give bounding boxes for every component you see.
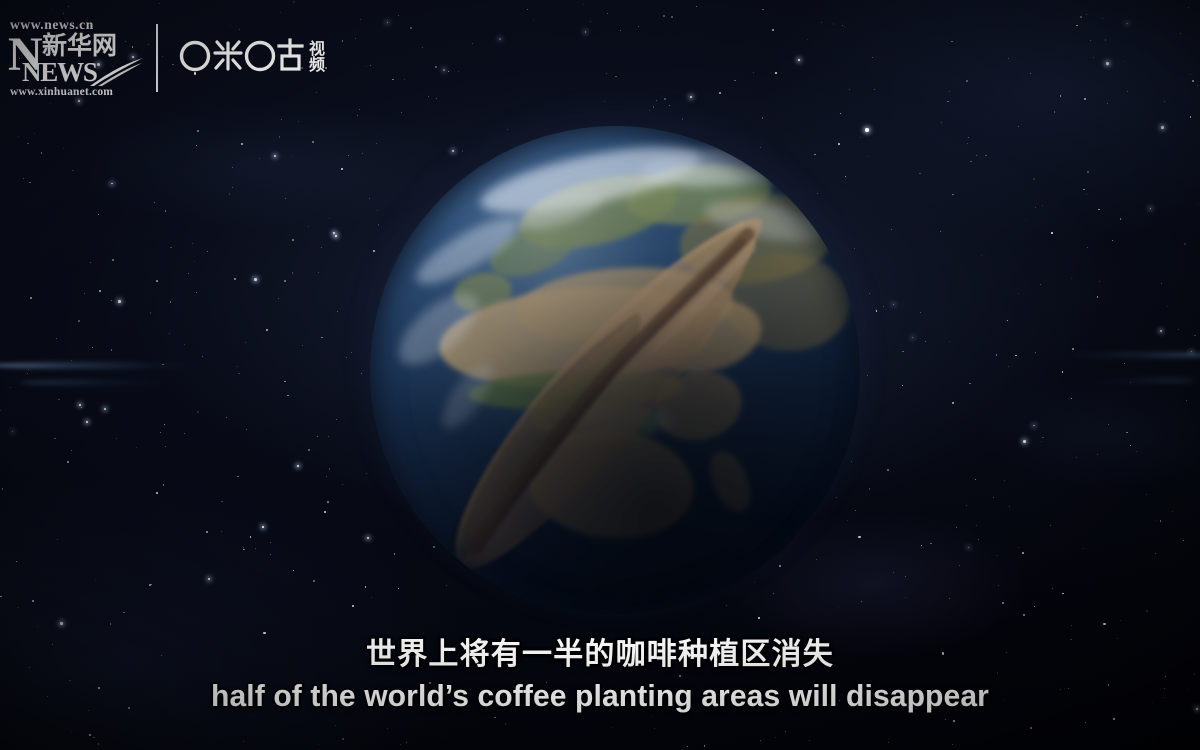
star [1033, 425, 1035, 427]
star-bright [104, 408, 106, 410]
star [985, 155, 986, 156]
star [975, 479, 976, 480]
star [1008, 366, 1009, 367]
star [284, 280, 286, 282]
star [341, 168, 343, 170]
star [98, 214, 99, 215]
star [164, 424, 165, 425]
star [1080, 16, 1082, 18]
star [949, 91, 950, 92]
star [772, 29, 774, 31]
migu-video-logo[interactable]: 视 频 [178, 34, 325, 83]
video-frame: www.news.cn N 新华网 NEWS www.xinhuanet.com [0, 0, 1200, 750]
star [192, 243, 193, 244]
star-bright [208, 578, 210, 580]
star [406, 742, 407, 743]
star [1035, 352, 1036, 353]
star [1086, 194, 1087, 195]
star [1124, 363, 1125, 364]
star [252, 276, 253, 277]
star [1190, 74, 1191, 75]
star [1155, 553, 1156, 554]
star [671, 16, 673, 18]
star [925, 341, 926, 342]
star [329, 468, 330, 469]
star [90, 262, 91, 263]
star [861, 601, 862, 602]
star [112, 259, 113, 260]
star [328, 436, 329, 437]
star [196, 292, 197, 293]
star [1120, 218, 1121, 219]
star [1191, 351, 1193, 353]
star [2, 488, 3, 489]
star [1023, 614, 1025, 616]
star [355, 38, 356, 39]
star [976, 155, 977, 156]
star [1071, 278, 1072, 279]
xinhua-swoosh-icon [88, 57, 144, 87]
star [1093, 57, 1094, 58]
star [160, 432, 161, 433]
star [1023, 440, 1026, 443]
star [651, 716, 652, 717]
star [1107, 103, 1108, 104]
star [398, 15, 399, 16]
star [154, 202, 155, 203]
star [947, 101, 948, 102]
star [41, 152, 42, 153]
star [920, 312, 921, 313]
star [1183, 540, 1184, 541]
star [18, 136, 19, 137]
star [72, 170, 73, 171]
star [308, 449, 310, 451]
star [1108, 424, 1109, 425]
star [1194, 335, 1195, 336]
star [1146, 610, 1147, 611]
star [280, 12, 281, 13]
xinhua-bottom-url: www.xinhuanet.com [8, 87, 140, 99]
star [663, 15, 665, 17]
star [981, 255, 982, 256]
star [967, 143, 968, 144]
star [99, 290, 101, 292]
star [318, 272, 319, 273]
star [197, 411, 198, 412]
star [1190, 116, 1192, 118]
star [10, 387, 11, 388]
star [67, 461, 69, 463]
subtitle-english: half of the world’s coffee planting area… [18, 678, 1182, 714]
star [1184, 243, 1185, 244]
star [302, 345, 303, 346]
star [996, 354, 997, 355]
broadcast-logo-bar: www.news.cn N 新华网 NEWS www.xinhuanet.com [8, 18, 325, 98]
star [998, 585, 999, 586]
star [400, 744, 401, 745]
star [226, 417, 227, 418]
star [959, 565, 960, 566]
star [952, 194, 954, 196]
star [1018, 126, 1019, 127]
star [1178, 329, 1179, 330]
star [293, 570, 294, 571]
star [1004, 480, 1005, 481]
star [1086, 14, 1087, 15]
star [902, 385, 903, 386]
star [1087, 171, 1089, 173]
star [29, 182, 30, 183]
star [1150, 208, 1152, 210]
star [874, 89, 875, 90]
star [590, 21, 591, 22]
star [111, 349, 112, 350]
star [150, 312, 151, 313]
subtitle-block: 世界上将有一半的咖啡种植区消失 half of the world’s coff… [0, 637, 1200, 714]
star [27, 373, 28, 374]
star [348, 155, 349, 156]
star [505, 723, 506, 724]
star [169, 333, 170, 334]
star [1099, 281, 1100, 282]
star [1112, 240, 1113, 241]
star [775, 737, 776, 738]
star [1136, 451, 1137, 452]
star [1198, 203, 1199, 204]
star [254, 278, 257, 281]
star [255, 548, 256, 549]
star [246, 429, 247, 430]
star [969, 383, 970, 384]
star [292, 272, 293, 273]
star [912, 337, 913, 338]
star [89, 734, 91, 736]
star [151, 584, 152, 585]
star [365, 586, 367, 588]
star [327, 501, 329, 503]
star [966, 505, 967, 506]
subtitle-chinese: 世界上将有一半的咖啡种植区消失 [0, 637, 1200, 672]
star [232, 167, 233, 168]
star [259, 158, 260, 159]
star [1155, 520, 1156, 521]
star [237, 476, 239, 478]
star [428, 96, 429, 97]
star [221, 501, 222, 502]
star [366, 66, 367, 67]
star [56, 338, 57, 339]
star [1034, 606, 1035, 607]
star [888, 742, 889, 743]
star [57, 539, 58, 540]
star [887, 469, 889, 471]
star [78, 320, 79, 321]
star [844, 26, 845, 27]
globe-sphere [370, 126, 860, 616]
star [585, 31, 586, 32]
star [136, 447, 137, 448]
star [1030, 73, 1031, 74]
star [30, 297, 32, 299]
star [840, 113, 841, 114]
star [329, 218, 330, 219]
star [336, 419, 337, 420]
star [325, 67, 327, 69]
star [1102, 18, 1103, 19]
star [1083, 548, 1084, 549]
star [1042, 205, 1043, 206]
star [238, 373, 239, 374]
xinhua-news-logo[interactable]: www.news.cn N 新华网 NEWS www.xinhuanet.com [8, 18, 140, 98]
star [207, 251, 208, 252]
star [940, 231, 941, 232]
star [116, 438, 117, 439]
star [359, 109, 360, 110]
star [719, 92, 721, 94]
star [196, 145, 197, 146]
star [997, 555, 998, 556]
star-bright [1160, 330, 1162, 332]
migu-subbrand-char-2: 频 [309, 58, 325, 74]
star [1130, 382, 1131, 383]
xinhua-monogram-block: N 新华网 NEWS [8, 33, 140, 85]
star [279, 136, 280, 137]
star [12, 431, 13, 432]
star [1071, 625, 1072, 626]
star [1035, 207, 1036, 208]
star [387, 22, 388, 23]
star [993, 497, 994, 498]
star [1050, 525, 1051, 526]
star [1105, 39, 1106, 40]
star [17, 607, 18, 608]
star [1164, 101, 1165, 102]
star [1160, 520, 1162, 522]
star [891, 229, 892, 230]
star [945, 719, 946, 720]
star [687, 746, 688, 747]
migu-subbrand-char-1: 视 [309, 42, 325, 58]
star [197, 130, 198, 131]
star [337, 311, 338, 312]
star [229, 193, 230, 194]
star [118, 300, 121, 303]
star [95, 579, 96, 580]
star [387, 728, 388, 729]
star [952, 744, 953, 745]
star [949, 598, 950, 599]
star [1161, 126, 1164, 129]
star [92, 347, 93, 348]
star [1130, 445, 1132, 447]
star [921, 545, 922, 546]
star [63, 13, 64, 14]
star [34, 133, 35, 134]
star [1025, 219, 1026, 220]
star [237, 366, 238, 367]
star [1054, 111, 1055, 112]
star [893, 304, 894, 305]
star [71, 360, 72, 361]
star [978, 539, 979, 540]
star [1197, 85, 1198, 86]
star [704, 745, 705, 746]
star [266, 329, 268, 331]
star [172, 299, 173, 300]
star [221, 531, 222, 532]
star [58, 399, 59, 400]
star [170, 301, 171, 302]
star [798, 59, 800, 61]
logo-divider [156, 24, 158, 92]
star [821, 22, 822, 23]
star [184, 344, 185, 345]
star [68, 6, 69, 7]
star [1071, 398, 1072, 399]
star [86, 421, 88, 423]
star [111, 183, 113, 185]
star [494, 717, 496, 719]
star [868, 156, 869, 157]
star [1018, 293, 1019, 294]
star [23, 178, 24, 179]
star [436, 98, 437, 99]
star [263, 632, 266, 635]
star [1022, 552, 1024, 554]
star [734, 80, 736, 82]
star [615, 76, 616, 77]
star [308, 226, 309, 227]
star [318, 744, 319, 745]
star [1098, 209, 1099, 210]
star [111, 300, 112, 301]
star [1107, 65, 1108, 66]
star [1015, 355, 1016, 356]
star [241, 143, 243, 145]
star [110, 623, 111, 624]
star [50, 103, 51, 104]
star [1002, 602, 1004, 604]
star [352, 605, 355, 608]
star [293, 1, 294, 2]
star [262, 526, 264, 528]
star [499, 38, 501, 40]
star [607, 13, 608, 14]
star [324, 511, 325, 512]
star [245, 342, 246, 343]
star [1167, 306, 1168, 307]
star [243, 549, 244, 550]
star [362, 153, 363, 154]
star [1076, 457, 1077, 458]
star [123, 612, 124, 613]
star [849, 89, 850, 90]
star [1172, 511, 1173, 512]
star [0, 410, 1, 411]
star [1060, 95, 1062, 97]
star [1113, 718, 1115, 720]
star [1018, 547, 1019, 548]
star [1072, 348, 1074, 350]
star [321, 337, 322, 338]
star [165, 210, 166, 211]
star [941, 122, 942, 123]
star [1123, 61, 1124, 62]
star [458, 71, 459, 72]
star [292, 239, 293, 240]
star [1041, 441, 1042, 442]
star [274, 155, 276, 157]
star [1033, 178, 1034, 179]
star-bright [1106, 62, 1109, 65]
star [60, 622, 63, 625]
star [472, 43, 473, 44]
star [1042, 437, 1043, 438]
star [1062, 371, 1063, 372]
star [404, 79, 405, 80]
star [1051, 232, 1053, 234]
star [163, 484, 164, 485]
star [638, 26, 639, 27]
star [250, 536, 252, 538]
star [159, 3, 160, 4]
star [78, 100, 80, 102]
star [583, 4, 584, 5]
star [1085, 722, 1086, 723]
star [156, 280, 158, 282]
star-bright [865, 128, 869, 132]
star [1188, 7, 1189, 8]
star [435, 66, 437, 68]
star [410, 27, 412, 29]
star [533, 20, 534, 21]
star [278, 298, 279, 299]
star [270, 554, 271, 555]
star [270, 542, 271, 543]
star [1008, 58, 1009, 59]
star [953, 720, 955, 722]
star [162, 364, 163, 365]
star [1030, 727, 1032, 729]
star [285, 198, 286, 199]
star [872, 57, 873, 58]
star [1161, 283, 1162, 284]
star [696, 6, 697, 7]
xinhua-chinese-name: 新华网 [42, 34, 117, 59]
star [612, 727, 613, 728]
star [313, 580, 315, 582]
star [968, 137, 969, 138]
star [905, 597, 906, 598]
star [54, 438, 55, 439]
star [51, 9, 52, 10]
xinhua-news-wordmark: NEWS [22, 59, 97, 86]
star [392, 79, 394, 81]
star [0, 596, 2, 598]
star [298, 121, 299, 122]
star [321, 247, 322, 248]
star [84, 293, 85, 294]
star [1007, 320, 1008, 321]
star [401, 112, 402, 113]
earth-globe [370, 126, 860, 616]
star [785, 731, 786, 732]
star [37, 626, 38, 627]
star [976, 525, 977, 526]
star [1126, 432, 1127, 433]
star [443, 69, 445, 71]
